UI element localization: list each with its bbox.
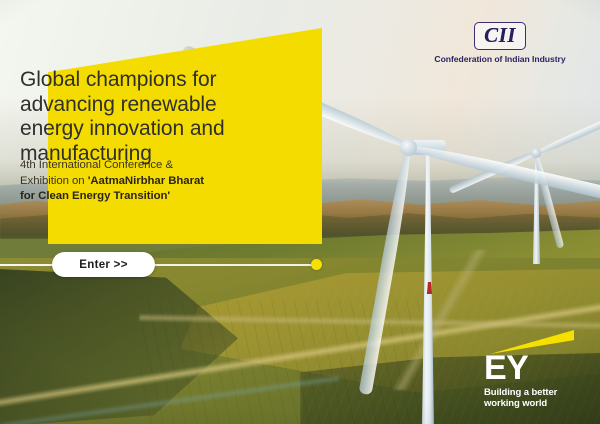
enter-rail-right — [148, 264, 318, 266]
ey-logo: EY Building a better working world — [484, 330, 588, 409]
cii-logo: CII Confederation of Indian Industry — [420, 22, 580, 64]
enter-button[interactable]: Enter >> — [52, 252, 155, 277]
enter-rail-end-dot[interactable] — [311, 259, 322, 270]
ey-logo-tagline: Building a better working world — [484, 387, 588, 409]
event-subtitle-line-2-plain: Exhibition on — [20, 175, 88, 187]
cii-logo-mark-text: CII — [484, 23, 516, 47]
event-subtitle-line-2: Exhibition on 'AatmaNirbhar Bharat — [20, 174, 264, 190]
event-subtitle: 4th International Conference & Exhibitio… — [20, 158, 264, 205]
page-title: Global champions for advancing renewable… — [20, 68, 262, 166]
ey-logo-tagline-line-2: working world — [484, 398, 588, 409]
splash-slide: CII Confederation of Indian Industry Glo… — [0, 0, 600, 424]
ey-logo-tagline-line-1: Building a better — [484, 387, 588, 398]
ey-logo-mark: EY — [484, 352, 588, 384]
event-subtitle-line-1: 4th International Conference & — [20, 158, 264, 174]
event-subtitle-emphasis-1: 'AatmaNirbhar Bharat — [88, 175, 204, 187]
enter-rail-left — [0, 264, 60, 266]
cii-logo-mark: CII — [474, 22, 526, 50]
event-subtitle-emphasis-2: for Clean Energy Transition' — [20, 189, 264, 205]
cii-logo-tagline: Confederation of Indian Industry — [420, 54, 580, 64]
